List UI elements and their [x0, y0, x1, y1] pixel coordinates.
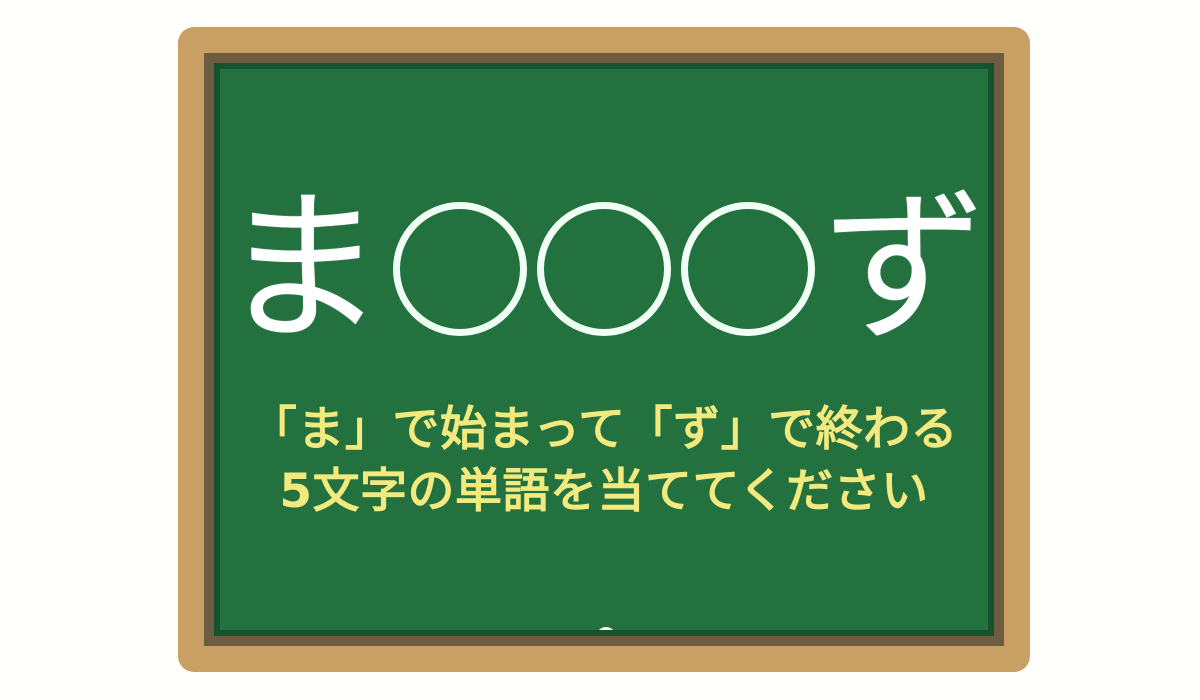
blackboard-frame: ま ず 「ま」で始まって「ず」で終わる 5文字の単語を当ててください — [178, 27, 1030, 672]
eraser-felt — [508, 634, 616, 636]
hint-block: 「ま」で始まって「ず」で終わる 5文字の単語を当ててください — [220, 399, 988, 523]
puzzle-first-kana: ま — [221, 187, 385, 351]
puzzle-last-kana: ず — [823, 187, 987, 351]
chalkboard-scene: ま ず 「ま」で始まって「ず」で終わる 5文字の単語を当ててください — [0, 0, 1200, 700]
puzzle-blank-circle-1[interactable] — [393, 202, 527, 336]
puzzle-blank-circle-3[interactable] — [681, 202, 815, 336]
puzzle-row: ま ず — [220, 179, 988, 359]
blackboard-bevel: ま ず 「ま」で始まって「ず」で終わる 5文字の単語を当ててください — [204, 53, 1004, 646]
hint-line-1: 「ま」で始まって「ず」で終わる — [220, 399, 988, 461]
blackboard-eraser[interactable] — [500, 634, 616, 636]
blackboard-surface: ま ず 「ま」で始まって「ず」で終わる 5文字の単語を当ててください — [214, 63, 994, 636]
chalk-tray-group — [492, 614, 704, 636]
white-chalk[interactable] — [592, 623, 659, 636]
puzzle-blank-circle-2[interactable] — [537, 202, 671, 336]
hint-line-2: 5文字の単語を当ててください — [220, 461, 988, 523]
